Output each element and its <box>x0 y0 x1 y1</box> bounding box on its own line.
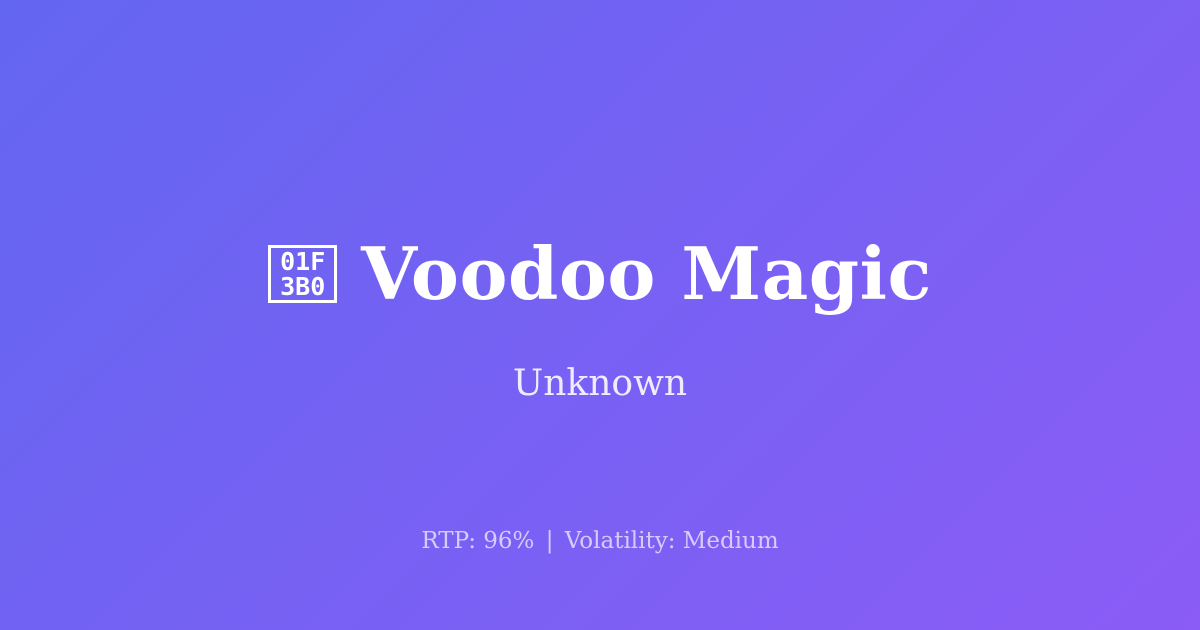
tofu-codepoint-row-1: 01F <box>280 249 325 274</box>
og-card: 01F 3B0 Voodoo Magic Unknown RTP: 96% | … <box>0 0 1200 630</box>
page-title: Voodoo Magic <box>361 238 932 310</box>
rtp-value: RTP: 96% <box>421 528 534 554</box>
meta-footer: RTP: 96% | Volatility: Medium <box>0 526 1200 556</box>
slot-machine-emoji-tofu-icon: 01F 3B0 <box>268 245 337 303</box>
subtitle-provider: Unknown <box>0 362 1200 406</box>
volatility-value: Volatility: Medium <box>565 528 779 554</box>
meta-separator: | <box>542 528 558 554</box>
title-row: 01F 3B0 Voodoo Magic <box>0 228 1200 320</box>
tofu-codepoint-row-2: 3B0 <box>280 274 325 299</box>
